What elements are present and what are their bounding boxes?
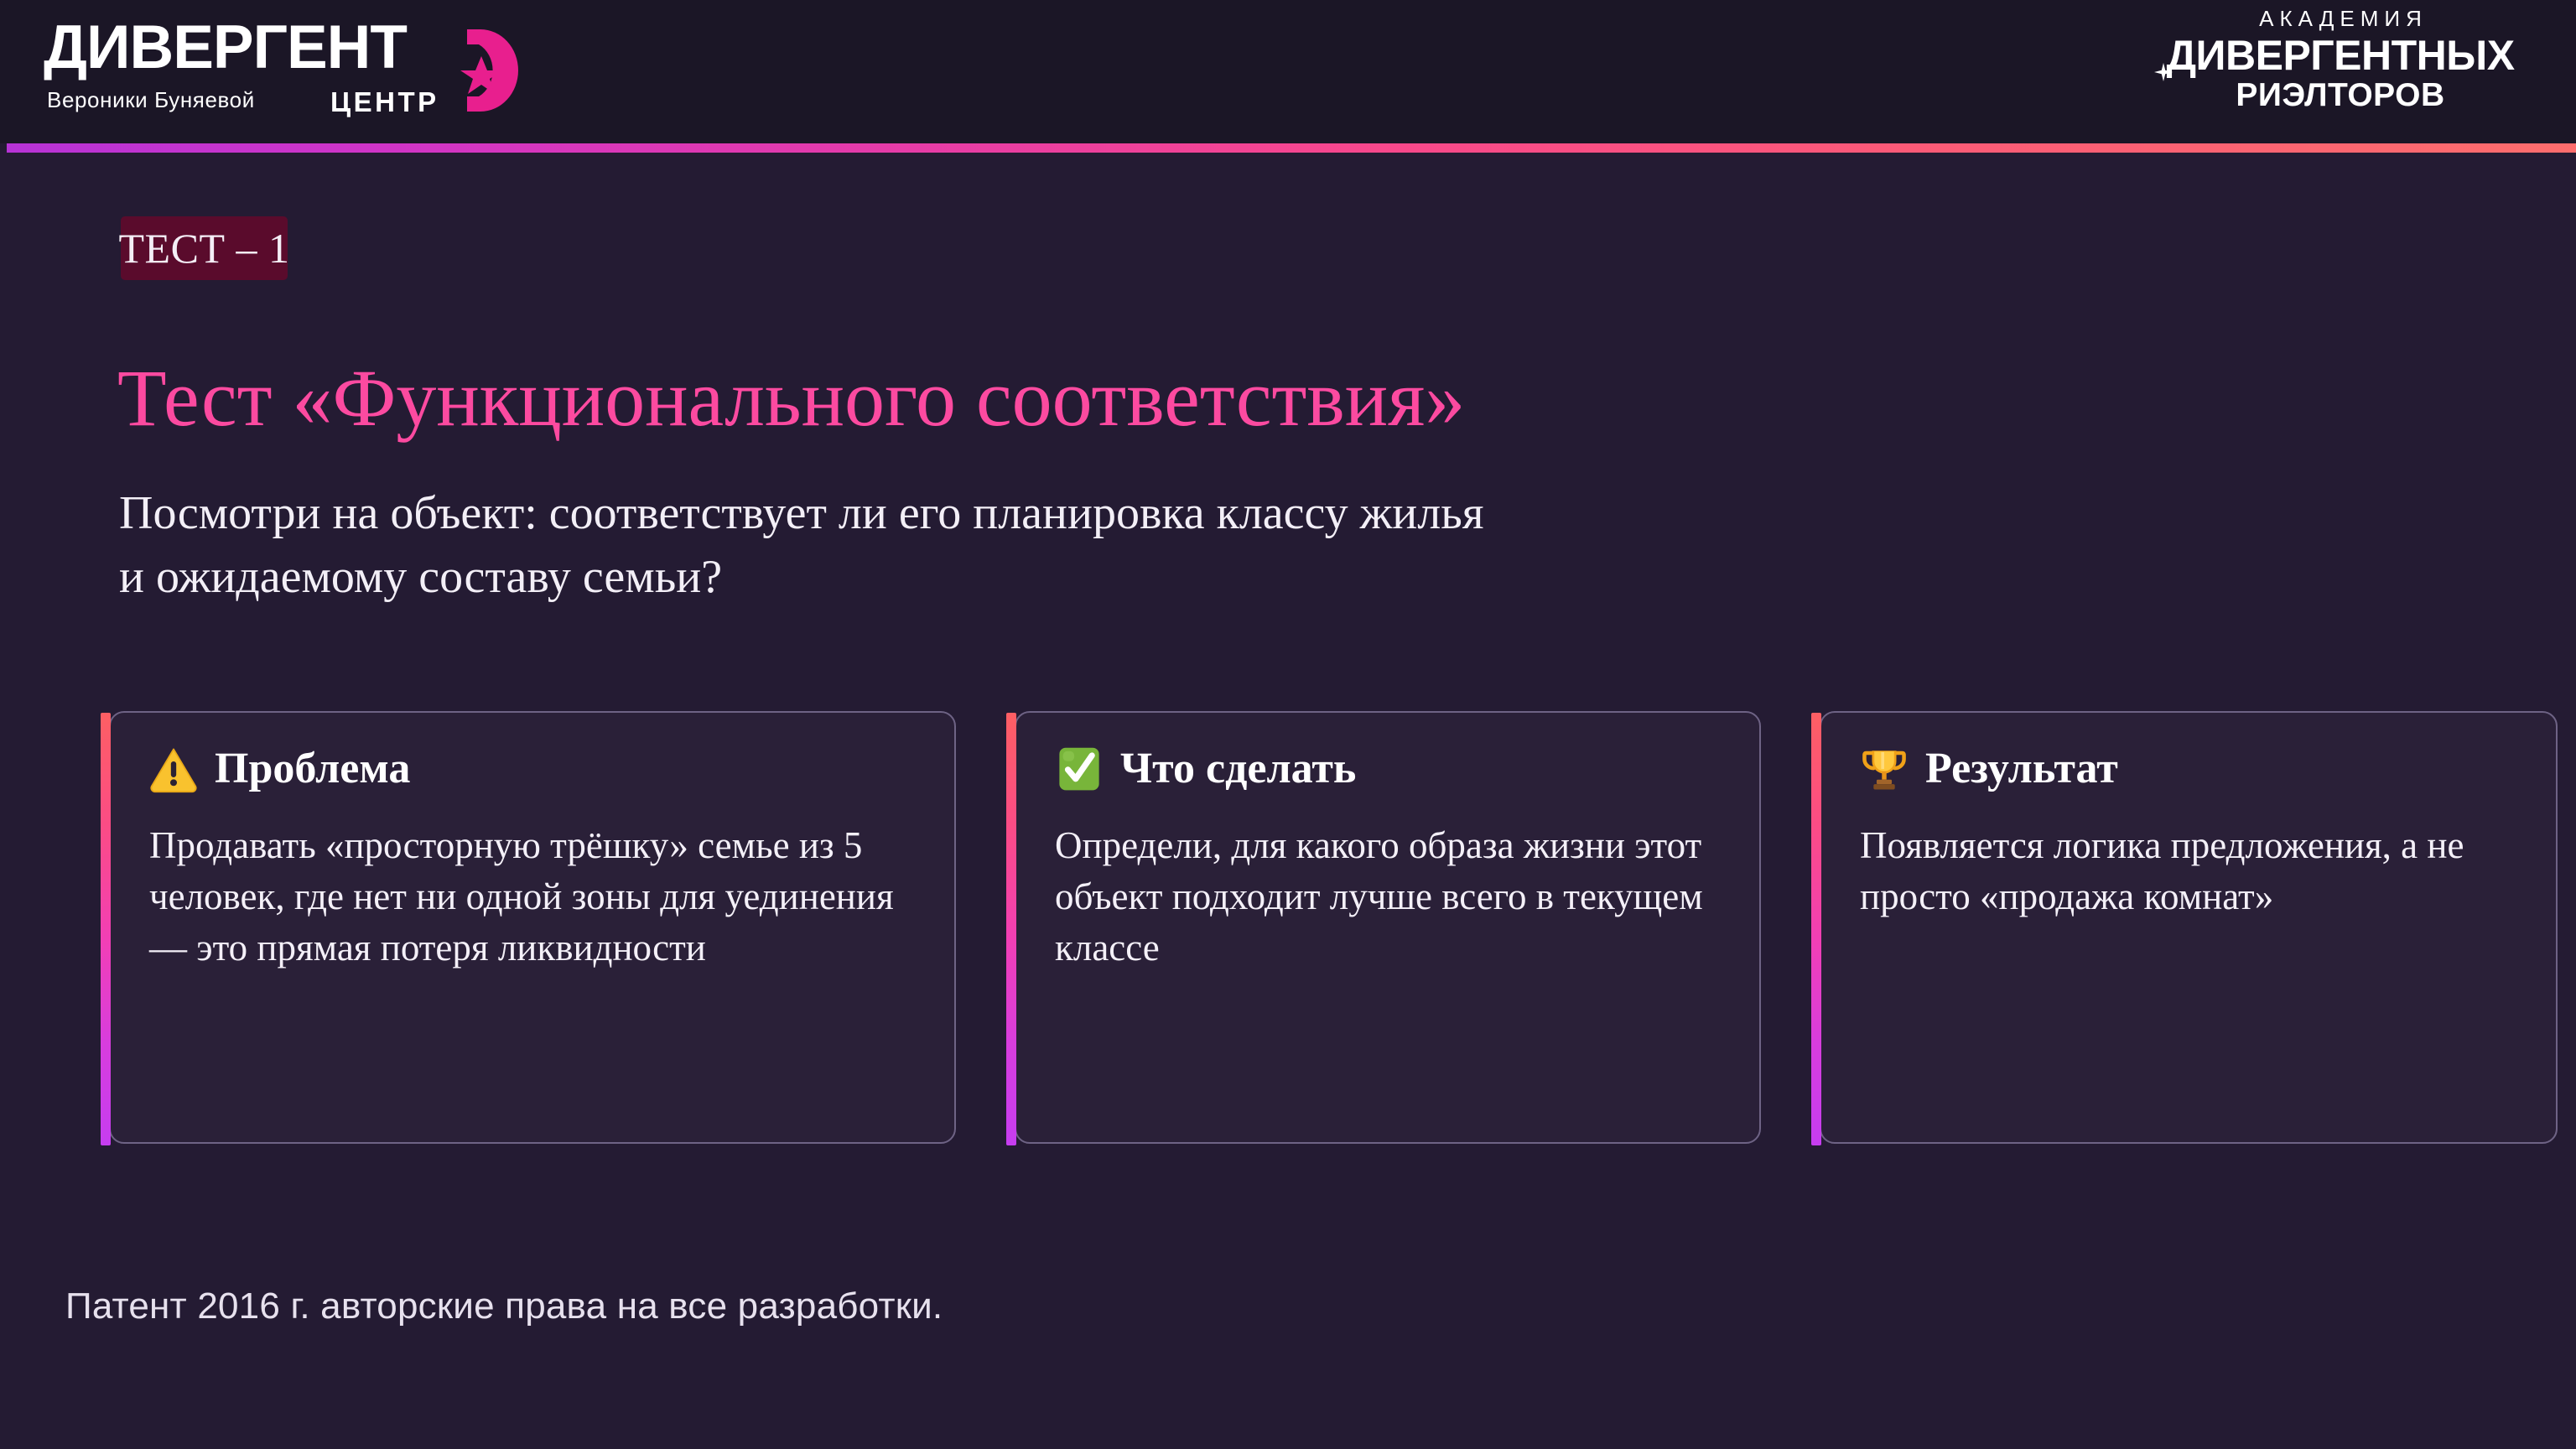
card-accent-bar [101, 713, 111, 1145]
subtitle-line-1: Посмотри на объект: соответствует ли его… [119, 481, 2199, 545]
card-what-to-do: Что сделать Определи, для какого образа … [1015, 711, 1761, 1144]
academy-line-2: ДИВЕРГЕНТНЫХ [2143, 33, 2537, 78]
card-row: Проблема Продавать «просторную трёшку» с… [101, 711, 2482, 1144]
card-body-text: Определи, для какого образа жизни этот о… [1055, 820, 1731, 974]
card-body-text: Появляется логика предложения, а не прос… [1860, 820, 2527, 922]
slide-root: ДИВЕРГЕНТ Вероники Буняевой ЦЕНТР АКАДЕМ… [0, 0, 2576, 1449]
card-result: Результат Появляется логика предложения,… [1820, 711, 2558, 1144]
slide-title: Тест «Функционального соответствия» [117, 356, 1465, 441]
card-header: Что сделать [1053, 736, 1356, 802]
test-number-badge-label: ТЕСТ – 1 [119, 227, 290, 269]
academy-line-2-text: ДИВЕРГЕНТНЫХ [2166, 32, 2514, 79]
brand-wordmark: ДИВЕРГЕНТ [44, 17, 407, 78]
card-accent-bar [1811, 713, 1821, 1145]
card-problem: Проблема Продавать «просторную трёшку» с… [109, 711, 956, 1144]
subtitle-line-2: и ожидаемому составу семьи? [119, 545, 2199, 609]
warning-triangle-icon [148, 743, 200, 795]
green-check-box-icon [1053, 743, 1105, 795]
slide-header: ДИВЕРГЕНТ Вероники Буняевой ЦЕНТР АКАДЕМ… [0, 0, 2576, 143]
brand-right-logo: АКАДЕМИЯ ДИВЕРГЕНТНЫХ РИЭЛТОРОВ [2143, 5, 2537, 139]
academy-line-1: АКАДЕМИЯ [2143, 5, 2537, 33]
brand-subline: Вероники Буняевой [47, 87, 255, 113]
brand-left-logo: ДИВЕРГЕНТ Вероники Буняевой ЦЕНТР [44, 12, 547, 129]
card-body-text: Продавать «просторную трёшку» семье из 5… [149, 820, 926, 974]
test-number-badge: ТЕСТ – 1 [121, 216, 288, 280]
academy-line-3: РИЭЛТОРОВ [2143, 78, 2537, 114]
card-header: Результат [1858, 736, 2118, 802]
header-gradient-rule [7, 143, 2576, 153]
trophy-icon [1858, 743, 1910, 795]
d-arc-star-icon [455, 26, 527, 115]
slide-subtitle: Посмотри на объект: соответствует ли его… [119, 481, 2199, 609]
card-header: Проблема [148, 736, 410, 802]
brand-center-label: ЦЕНТР [330, 86, 439, 118]
card-title: Результат [1925, 747, 2118, 791]
card-title: Проблема [215, 747, 410, 791]
sparkle-icon [2154, 44, 2173, 63]
card-title: Что сделать [1120, 747, 1356, 791]
footer-copyright: Патент 2016 г. авторские права на все ра… [65, 1285, 943, 1327]
card-accent-bar [1006, 713, 1016, 1145]
